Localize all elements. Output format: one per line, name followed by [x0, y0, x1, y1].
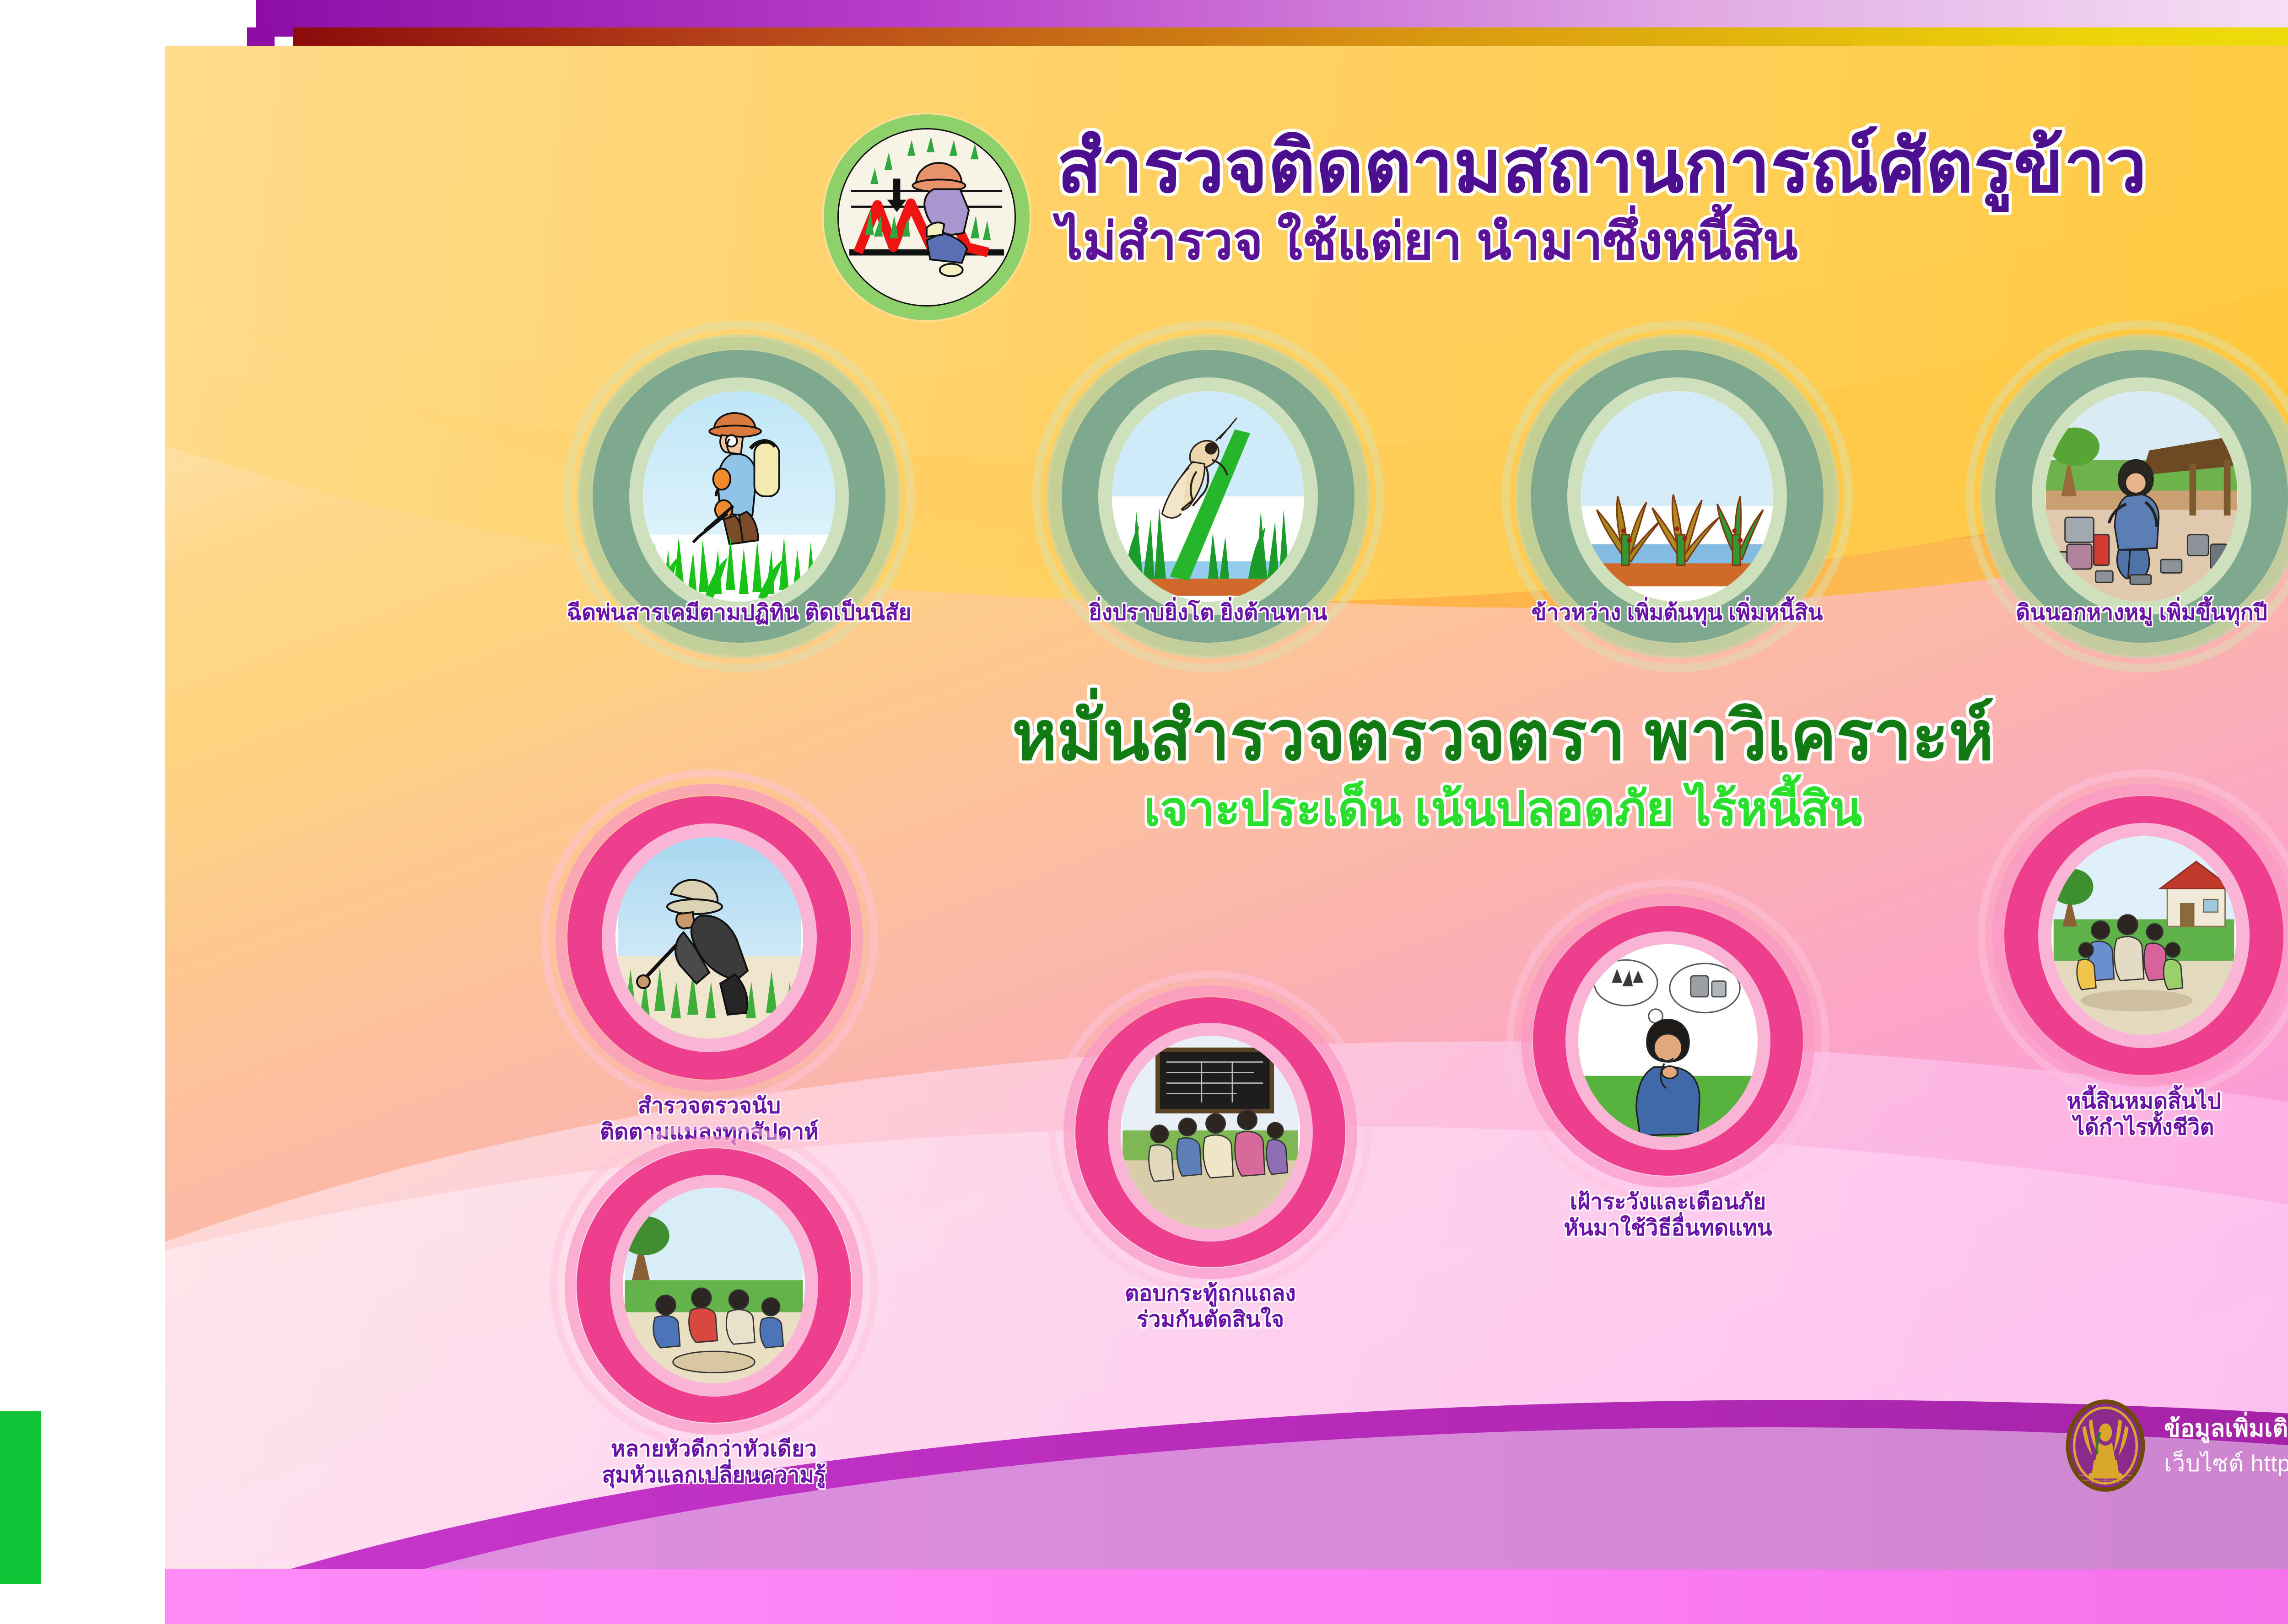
medallion-caption: หลายหัวดีกว่าหัวเดียว สุมหัวแลกเปลี่ยนคว… [602, 1436, 826, 1488]
farmers-sitting-sharing-knowledge-icon [623, 1188, 805, 1383]
frame-left-green-bar [0, 1411, 41, 1584]
center-slogan: หมั่นสำรวจตรวจตรา พาวิเคราะห์ เจาะประเด็… [1012, 700, 1994, 835]
medallion-rising-cost[interactable]: ข้าวหว่าง เพิ่มต้นทุน เพิ่มหนี้สิน [1531, 350, 1824, 643]
poster-header: สำรวจติดตามสถานการณ์ศัตรูข้าว ไม่สำรวจ ใ… [824, 114, 2147, 320]
frame-bottom-pink-bar [165, 1569, 2288, 1624]
header-title-block: สำรวจติดตามสถานการณ์ศัตรูข้าว ไม่สำรวจ ใ… [1057, 114, 2147, 269]
slogan-main-text: หมั่นสำรวจตรวจตรา พาวิเคราะห์ [1012, 700, 1994, 772]
caption-line-1: ตอบกระทู้ถกแถลง [1125, 1281, 1296, 1307]
happy-family-in-front-of-house-icon [2051, 836, 2236, 1035]
footer-text-block: ข้อมูลเพิ่มเติม สามารถเข้าไปดูได้ที่ "อง… [2164, 1411, 2288, 1481]
poster-canvas: สำรวจติดตามสถานการณ์ศัตรูข้าว ไม่สำรวจ ใ… [165, 46, 2288, 1574]
rice-farmer-survey-logo-icon [837, 128, 1016, 307]
page-subtitle: ไม่สำรวจ ใช้แต่ยา นำมาซึ่งหนี้สิน [1057, 213, 2147, 269]
caption-line-1: สำรวจตรวจนับ [600, 1093, 819, 1119]
footer-info-line: ข้อมูลเพิ่มเติม สามารถเข้าไปดูได้ที่ "อง… [2164, 1411, 2288, 1447]
page-title: สำรวจติดตามสถานการณ์ศัตรูข้าว [1057, 128, 2147, 205]
caption-line-1: เฝ้าระวังและเตือนภัย [1564, 1189, 1772, 1215]
medallion-caption: เฝ้าระวังและเตือนภัย หันมาใช้วิธีอื่นทดแ… [1564, 1189, 1772, 1241]
poster-stage: สำรวจติดตามสถานการณ์ศัตรูข้าว ไม่สำรวจ ใ… [0, 0, 2288, 1624]
medallion-caption: ฉีดพ่นสารเคมีตามปฏิทิน ติดเป็นนิสัย [563, 595, 915, 630]
poster-footer: ข้อมูลเพิ่มเติม สามารถเข้าไปดูได้ที่ "อง… [2064, 1398, 2288, 1494]
medallion-ring-pink [567, 796, 851, 1080]
medallion-caption: ตอบกระทู้ถกแถลง ร่วมกันตัดสินใจ [1125, 1281, 1296, 1333]
caption-line-2: หันมาใช้วิธีอื่นทดแทน [1564, 1215, 1772, 1242]
medallion-ring-green: ยิ่งปราบยิ่งโต ยิ่งต้านทาน [1062, 350, 1354, 643]
grasshopper-on-rice-leaf-icon [1112, 391, 1304, 602]
medallion-ring-pink [1533, 906, 1803, 1176]
medallion-caption: ดินนอกหางหมู เพิ่มขึ้นทุกปี [1966, 595, 2288, 630]
footer-website-line[interactable]: เว็บไซต์ http://www.ricethailand.go.th [2164, 1447, 2288, 1481]
farmer-thinking-about-alternatives-icon [1578, 944, 1758, 1137]
diseased-withered-rice-plants-icon [1581, 391, 1773, 602]
medallion-spray-calendar[interactable]: ฉีดพ่นสารเคมีตามปฏิทิน ติดเป็นนิสัย [593, 350, 885, 643]
medallion-knowledge-sharing[interactable]: หลายหัวดีกว่าหัวเดียว สุมหัวแลกเปลี่ยนคว… [577, 1148, 851, 1423]
medallion-ring-green: ดินนอกหางหมู เพิ่มขึ้นทุกปี [1995, 350, 2288, 643]
farmers-group-learning-blackboard-icon [1121, 1036, 1300, 1229]
header-logo-badge [824, 114, 1030, 320]
slogan-sub-text: เจาะประเด็น เน้นปลอดภัย ไร้หนี้สิน [1012, 783, 1994, 835]
medallion-pest-resistance[interactable]: ยิ่งปราบยิ่งโต ยิ่งต้านทาน [1062, 350, 1354, 643]
farmer-with-empty-pesticide-containers-icon [2045, 391, 2238, 602]
medallion-ring-pink [1075, 997, 1345, 1267]
medallion-ring-pink [577, 1148, 851, 1423]
medallion-ring-pink [2004, 796, 2283, 1075]
medallion-ring-green: ฉีดพ่นสารเคมีตามปฏิทิน ติดเป็นนิสัย [593, 350, 885, 643]
medallion-chemical-waste[interactable]: ดินนอกหางหมู เพิ่มขึ้นทุกปี [1995, 350, 2288, 643]
caption-line-1: หลายหัวดีกว่าหัวเดียว [602, 1436, 826, 1463]
caption-line-2: ได้กำไรทั้งชีวิต [2067, 1115, 2221, 1141]
medallion-ring-green: ข้าวหว่าง เพิ่มต้นทุน เพิ่มหนี้สิน [1531, 350, 1824, 643]
caption-line-2: สุมหัวแลกเปลี่ยนความรู้ [602, 1463, 826, 1489]
medallion-caption: ยิ่งปราบยิ่งโต ยิ่งต้านทาน [1032, 595, 1384, 630]
medallion-caption: หนี้สินหมดสิ้นไป ได้กำไรทั้งชีวิต [2067, 1089, 2221, 1140]
medallion-debt-free[interactable]: หนี้สินหมดสิ้นไป ได้กำไรทั้งชีวิต [2004, 796, 2283, 1075]
medallion-warning-alternatives[interactable]: เฝ้าระวังและเตือนภัย หันมาใช้วิธีอื่นทดแ… [1533, 906, 1803, 1176]
rice-department-gold-seal-icon [2064, 1398, 2147, 1494]
farmer-spraying-pesticide-backpack-icon [643, 391, 835, 602]
farmer-inspecting-rice-field-icon [615, 837, 803, 1038]
caption-line-1: หนี้สินหมดสิ้นไป [2067, 1089, 2221, 1115]
caption-line-2: ร่วมกันตัดสินใจ [1125, 1307, 1296, 1333]
medallion-survey-count[interactable]: สำรวจตรวจนับ ติดตามแมลงทุกสัปดาห์ [567, 796, 851, 1080]
medallion-caption: ข้าวหว่าง เพิ่มต้นทุน เพิ่มหนี้สิน [1501, 595, 1853, 630]
medallion-group-discussion[interactable]: ตอบกระทู้ถกแถลง ร่วมกันตัดสินใจ [1075, 997, 1345, 1267]
